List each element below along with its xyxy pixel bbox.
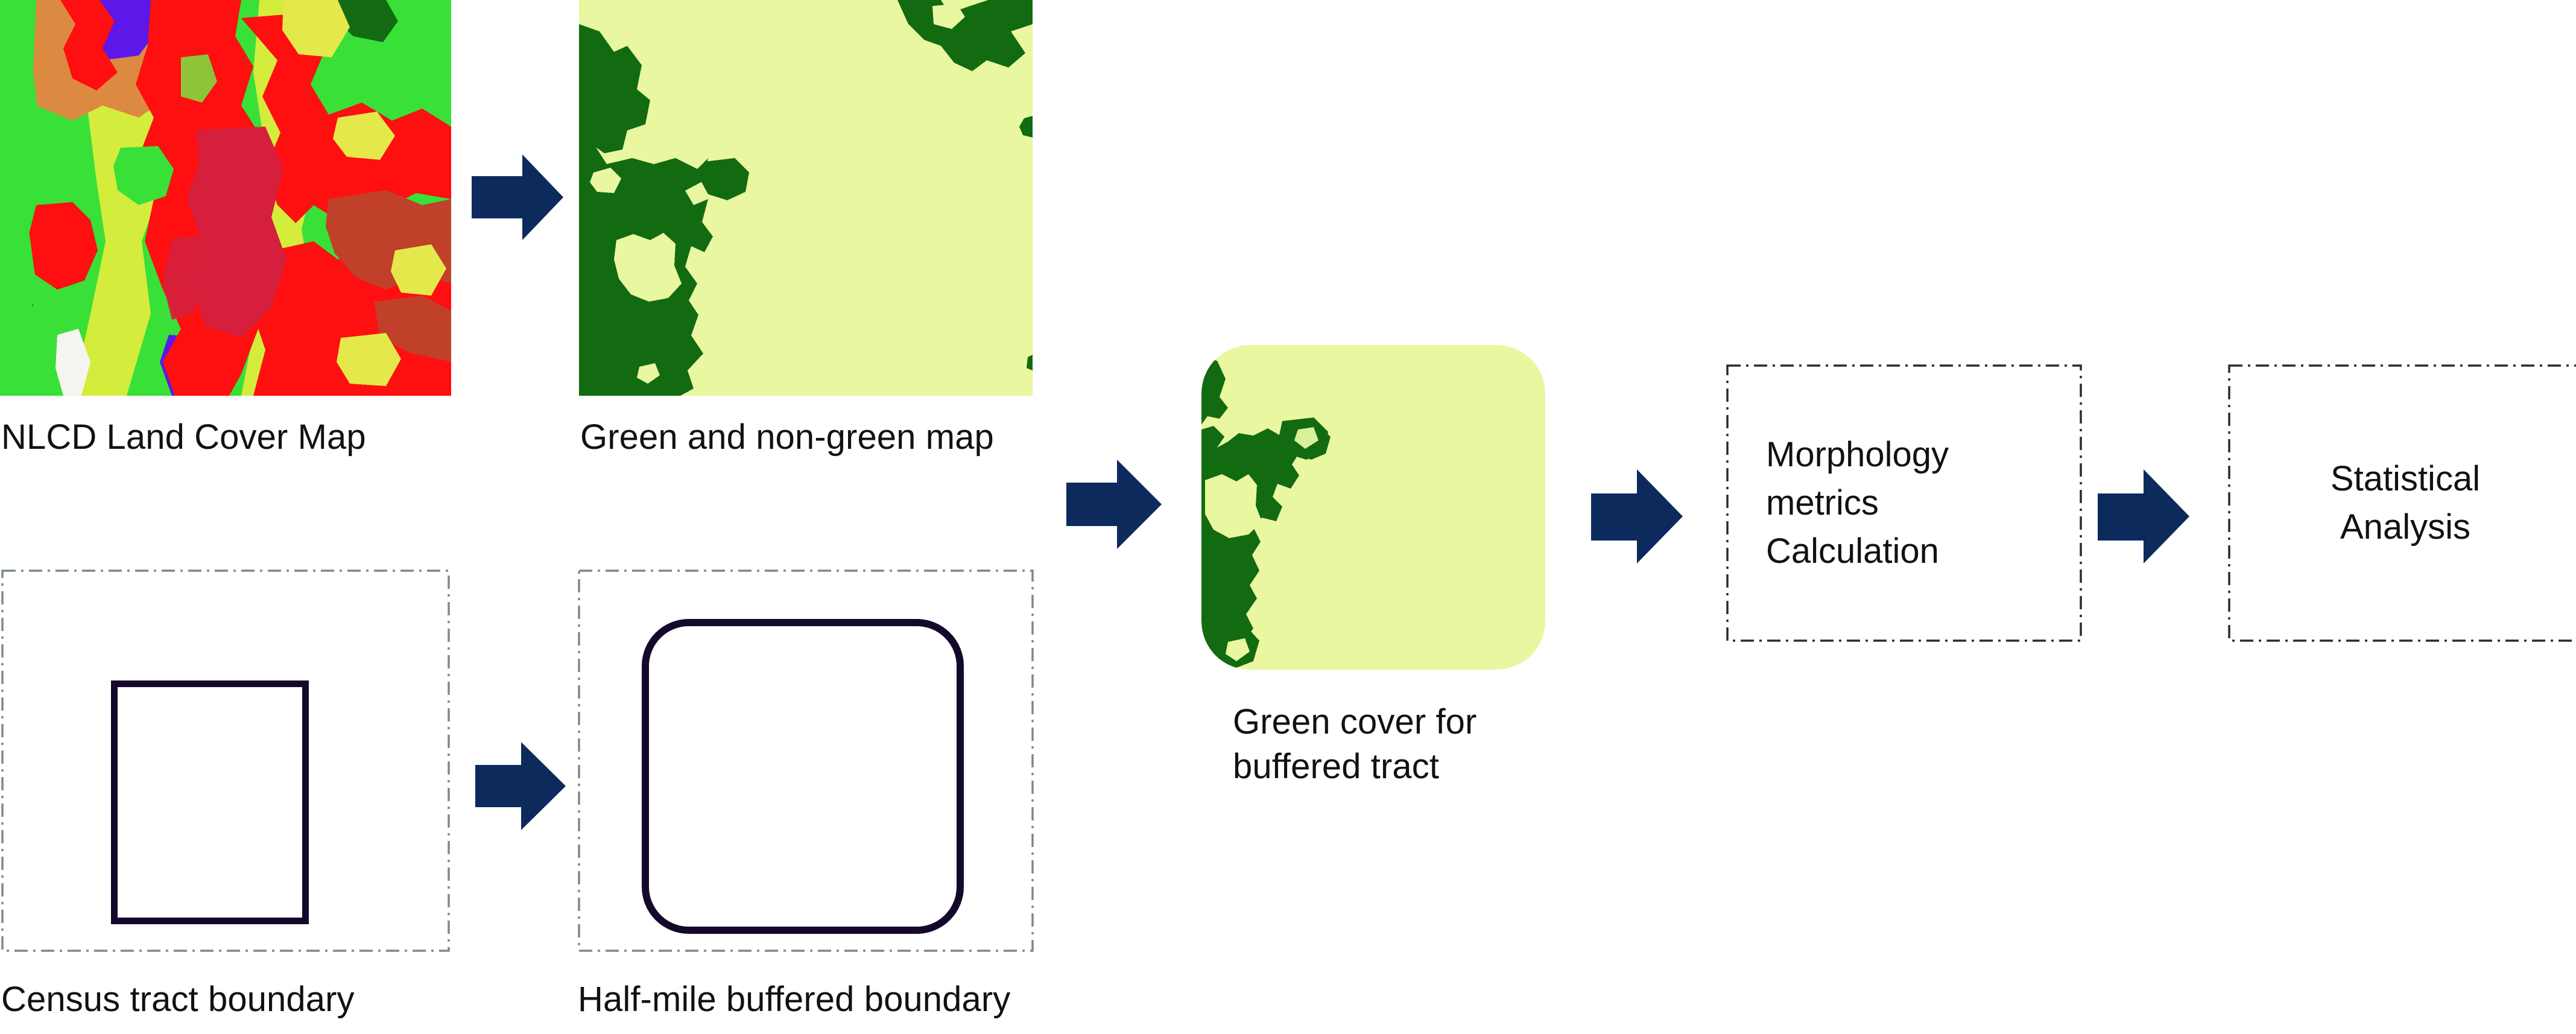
census-tract-polygon xyxy=(111,680,309,924)
census-tract-label: Census tract boundary xyxy=(1,977,544,1022)
arrow-tract-to-buffered xyxy=(475,742,566,830)
workflow-diagram: NLCD Land Cover Map Gree xyxy=(0,0,2576,1034)
arrow-nlcd-to-green-map xyxy=(472,154,563,240)
green-and-non-green-map-image xyxy=(579,0,1033,396)
green-map-label: Green and non-green map xyxy=(580,415,1183,460)
nlcd-map-label: NLCD Land Cover Map xyxy=(1,415,544,460)
arrow-morphology-to-statistics xyxy=(2098,469,2189,563)
nlcd-land-cover-map-image xyxy=(0,0,451,396)
morphology-metrics-box: Morphology metrics Calculation xyxy=(1726,364,2082,642)
arrow-to-green-cover xyxy=(1066,460,1162,549)
arrow-green-cover-to-morphology xyxy=(1591,469,1683,563)
buffered-boundary-label: Half-mile buffered boundary xyxy=(578,977,1241,1022)
statistical-analysis-box-label: Statistical Analysis xyxy=(2331,455,2480,551)
green-cover-label: Green cover for buffered tract xyxy=(1233,700,1619,789)
buffered-boundary-container xyxy=(578,569,1034,952)
green-cover-buffered-tract-image xyxy=(1201,345,1545,670)
census-tract-container xyxy=(1,569,450,952)
morphology-box-label: Morphology metrics Calculation xyxy=(1726,431,1949,576)
buffered-boundary-polygon xyxy=(642,619,964,934)
statistical-analysis-box: Statistical Analysis xyxy=(2228,364,2576,642)
